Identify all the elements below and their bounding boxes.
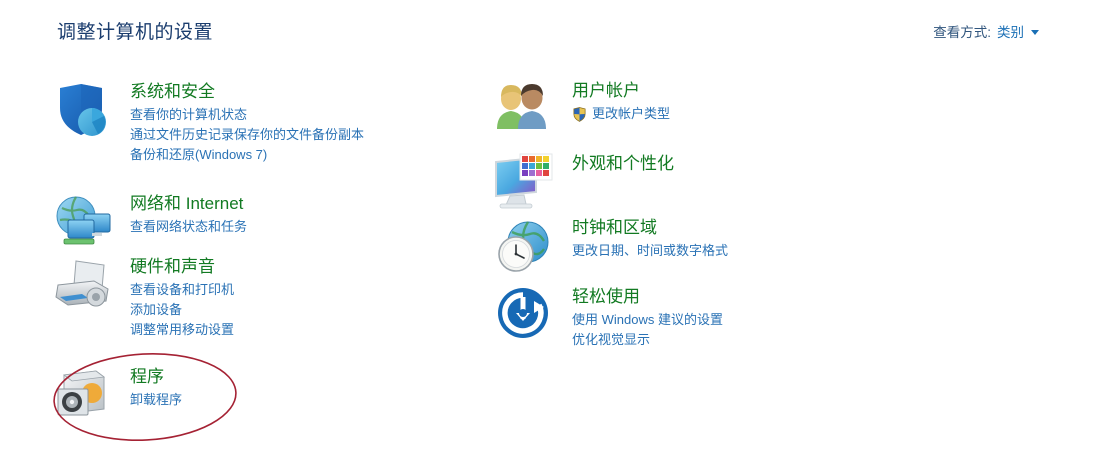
category-link[interactable]: 通过文件历史记录保存你的文件备份副本 bbox=[130, 125, 460, 145]
view-by-label: 查看方式: bbox=[933, 21, 991, 41]
category-link-label: 更改帐户类型 bbox=[592, 106, 670, 121]
category-link[interactable]: 优化视觉显示 bbox=[572, 330, 902, 350]
category-link-label: 备份和还原(Windows 7) bbox=[130, 147, 267, 162]
category-link[interactable]: 调整常用移动设置 bbox=[130, 320, 460, 340]
category-link[interactable]: 使用 Windows 建议的设置 bbox=[572, 310, 902, 330]
category-title[interactable]: 系统和安全 bbox=[130, 80, 460, 104]
ease-of-access-icon[interactable] bbox=[490, 285, 558, 345]
category-link-label: 卸载程序 bbox=[130, 392, 182, 407]
view-by-value[interactable]: 类别 bbox=[997, 21, 1024, 41]
category-links: 使用 Windows 建议的设置优化视觉显示 bbox=[572, 310, 902, 350]
category-links: 查看你的计算机状态通过文件历史记录保存你的文件备份副本备份和还原(Windows… bbox=[130, 105, 460, 165]
appearance-monitor-icon[interactable] bbox=[490, 152, 558, 212]
page-title: 调整计算机的设置 bbox=[57, 17, 213, 44]
category-link-label: 更改日期、时间或数字格式 bbox=[572, 243, 728, 258]
category-link-label: 使用 Windows 建议的设置 bbox=[572, 312, 723, 327]
user-accounts-icon[interactable] bbox=[490, 79, 558, 139]
category-links: 卸载程序 bbox=[130, 390, 460, 410]
programs-disc-icon[interactable] bbox=[48, 365, 116, 425]
category-links: 更改日期、时间或数字格式 bbox=[572, 241, 902, 261]
category-body: 硬件和声音查看设备和打印机添加设备调整常用移动设置 bbox=[130, 255, 460, 340]
category-link-label: 优化视觉显示 bbox=[572, 332, 650, 347]
category-body: 用户帐户更改帐户类型 bbox=[572, 79, 902, 124]
category-title[interactable]: 时钟和区域 bbox=[572, 216, 902, 240]
clock-region-icon[interactable] bbox=[490, 216, 558, 276]
category-body: 网络和 Internet查看网络状态和任务 bbox=[130, 192, 460, 237]
network-globe-icon[interactable] bbox=[48, 192, 116, 252]
category-title[interactable]: 用户帐户 bbox=[572, 79, 902, 103]
category-title[interactable]: 硬件和声音 bbox=[130, 255, 460, 279]
category-link[interactable]: 查看网络状态和任务 bbox=[130, 217, 460, 237]
category-link[interactable]: 查看你的计算机状态 bbox=[130, 105, 460, 125]
category-title[interactable]: 轻松使用 bbox=[572, 285, 902, 309]
view-by-control[interactable]: 查看方式: 类别 bbox=[933, 21, 1039, 41]
category-body: 外观和个性化 bbox=[572, 152, 902, 177]
printer-hardware-icon[interactable] bbox=[48, 255, 116, 315]
category-link-label: 查看网络状态和任务 bbox=[130, 219, 247, 234]
category-links: 更改帐户类型 bbox=[572, 104, 902, 124]
category-title[interactable]: 外观和个性化 bbox=[572, 152, 902, 176]
control-panel-header: 调整计算机的设置 查看方式: 类别 bbox=[0, 0, 1097, 62]
category-link-label: 调整常用移动设置 bbox=[130, 322, 234, 337]
category-links: 查看网络状态和任务 bbox=[130, 217, 460, 237]
category-link[interactable]: 卸载程序 bbox=[130, 390, 460, 410]
category-link[interactable]: 更改帐户类型 bbox=[572, 104, 902, 124]
shield-security-icon[interactable] bbox=[48, 80, 116, 140]
category-body: 轻松使用使用 Windows 建议的设置优化视觉显示 bbox=[572, 285, 902, 350]
category-link[interactable]: 备份和还原(Windows 7) bbox=[130, 145, 460, 165]
category-title[interactable]: 网络和 Internet bbox=[130, 192, 460, 216]
category-body: 系统和安全查看你的计算机状态通过文件历史记录保存你的文件备份副本备份和还原(Wi… bbox=[130, 80, 460, 165]
chevron-down-icon[interactable] bbox=[1031, 30, 1039, 35]
category-link[interactable]: 更改日期、时间或数字格式 bbox=[572, 241, 902, 261]
uac-shield-icon bbox=[572, 107, 587, 122]
category-link[interactable]: 查看设备和打印机 bbox=[130, 280, 460, 300]
category-link-label: 查看你的计算机状态 bbox=[130, 107, 247, 122]
category-link[interactable]: 添加设备 bbox=[130, 300, 460, 320]
category-title[interactable]: 程序 bbox=[130, 365, 460, 389]
category-link-label: 通过文件历史记录保存你的文件备份副本 bbox=[130, 127, 364, 142]
category-body: 时钟和区域更改日期、时间或数字格式 bbox=[572, 216, 902, 261]
category-link-label: 添加设备 bbox=[130, 302, 182, 317]
category-links: 查看设备和打印机添加设备调整常用移动设置 bbox=[130, 280, 460, 340]
category-body: 程序卸载程序 bbox=[130, 365, 460, 410]
category-link-label: 查看设备和打印机 bbox=[130, 282, 234, 297]
